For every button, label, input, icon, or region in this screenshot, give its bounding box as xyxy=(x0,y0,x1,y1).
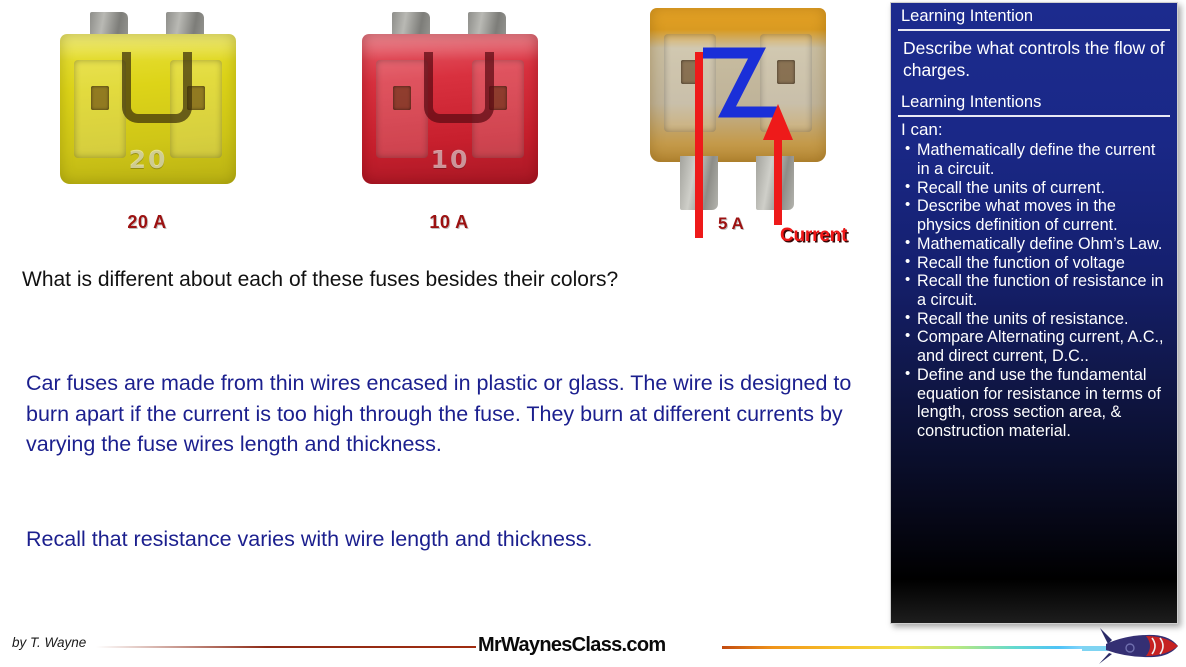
current-label: Current xyxy=(780,225,847,247)
fuse-pin xyxy=(393,86,411,110)
learning-objectives-panel: Learning Intention Describe what control… xyxy=(890,2,1178,624)
explanation-paragraph: Car fuses are made from thin wires encas… xyxy=(26,368,861,460)
list-item: Recall the function of resistance in a c… xyxy=(905,272,1171,309)
fuse-cavity-left xyxy=(74,60,126,158)
fuse-image-10a: 10 10 A xyxy=(344,4,554,209)
panel-heading-learning-intention: Learning Intention xyxy=(891,3,1177,29)
question-text: What is different about each of these fu… xyxy=(22,266,662,294)
fuse-rating-label-5a: 5 A xyxy=(718,214,744,234)
fuse-cavity-left xyxy=(376,60,428,158)
fuse-element-wire xyxy=(424,52,494,123)
list-item: Define and use the fundamental equation … xyxy=(905,366,1171,441)
current-annotation-overlay xyxy=(620,0,900,260)
learning-intention-text: Describe what controls the flow of charg… xyxy=(891,31,1177,89)
list-item: Describe what moves in the physics defin… xyxy=(905,197,1171,234)
panel-heading-learning-intentions: Learning Intentions xyxy=(891,89,1177,115)
list-item: Recall the units of resistance. xyxy=(905,310,1171,329)
footer-rule-right xyxy=(722,646,1088,649)
fuse-element-wire xyxy=(122,52,192,123)
fuse-rating-label-20a: 20 A xyxy=(42,212,252,233)
fuse-rating-label-10a: 10 A xyxy=(344,212,554,233)
footer-rule-left xyxy=(96,646,476,648)
footer-site-link[interactable]: MrWaynesClass.com xyxy=(478,634,665,657)
i-can-label: I can: xyxy=(891,117,1177,141)
fuse-body: 20 xyxy=(60,34,236,184)
footer-author: by T. Wayne xyxy=(12,635,86,650)
current-arrow-up xyxy=(763,104,793,225)
list-item: Mathematically define Ohm’s Law. xyxy=(905,235,1171,254)
slide-footer: by T. Wayne MrWaynesClass.com xyxy=(0,621,1186,667)
wire-path-marker xyxy=(703,53,778,112)
objectives-list: Mathematically define the current in a c… xyxy=(891,141,1177,440)
rocket-icon xyxy=(1082,626,1182,666)
fuse-emboss-rating: 20 xyxy=(60,145,236,174)
recall-paragraph: Recall that resistance varies with wire … xyxy=(26,524,861,555)
fuse-pin xyxy=(91,86,109,110)
fuse-emboss-rating: 10 xyxy=(362,145,538,174)
fuse-body: 10 xyxy=(362,34,538,184)
list-item: Recall the function of voltage xyxy=(905,254,1171,273)
fuse-image-20a: 20 20 A xyxy=(42,4,252,209)
list-item: Recall the units of current. xyxy=(905,179,1171,198)
list-item: Compare Alternating current, A.C., and d… xyxy=(905,328,1171,365)
list-item: Mathematically define the current in a c… xyxy=(905,141,1171,178)
